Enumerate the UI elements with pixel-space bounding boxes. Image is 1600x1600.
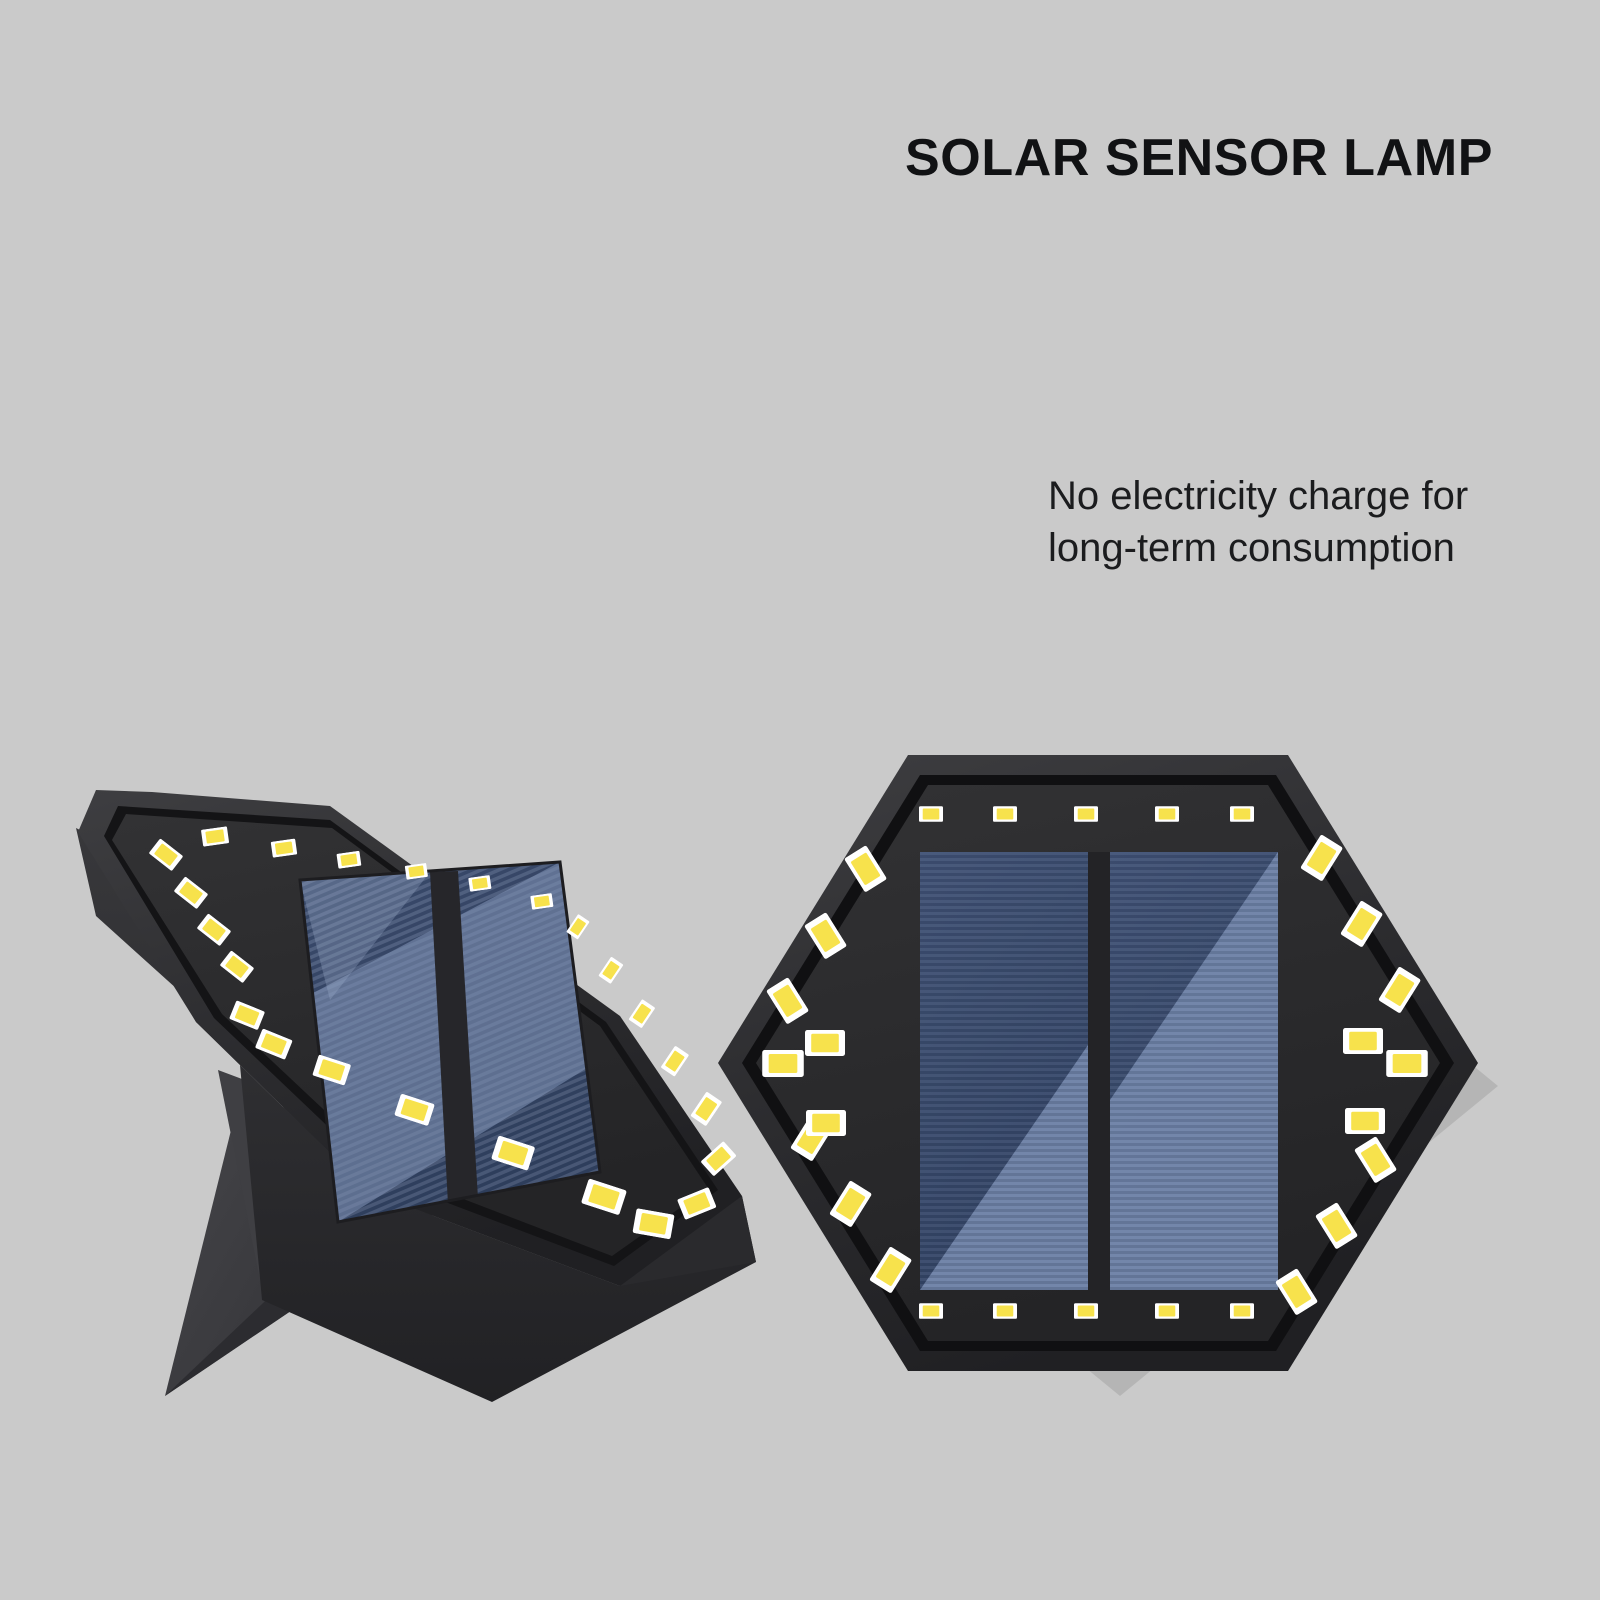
lamp-top-view	[718, 755, 1498, 1396]
product-illustration	[0, 0, 1600, 1600]
solar-panel-top	[920, 852, 1278, 1290]
solar-panel-tilted	[300, 862, 600, 1222]
feature-text: No electricity charge for long-term cons…	[1048, 470, 1468, 574]
page-title: SOLAR SENSOR LAMP	[905, 128, 1493, 188]
feature-line-1: No electricity charge for	[1048, 470, 1468, 522]
product-scene: SOLAR SENSOR LAMP No electricity charge …	[0, 0, 1600, 1600]
lamp-tilted-view	[76, 790, 756, 1402]
feature-line-2: long-term consumption	[1048, 522, 1468, 574]
